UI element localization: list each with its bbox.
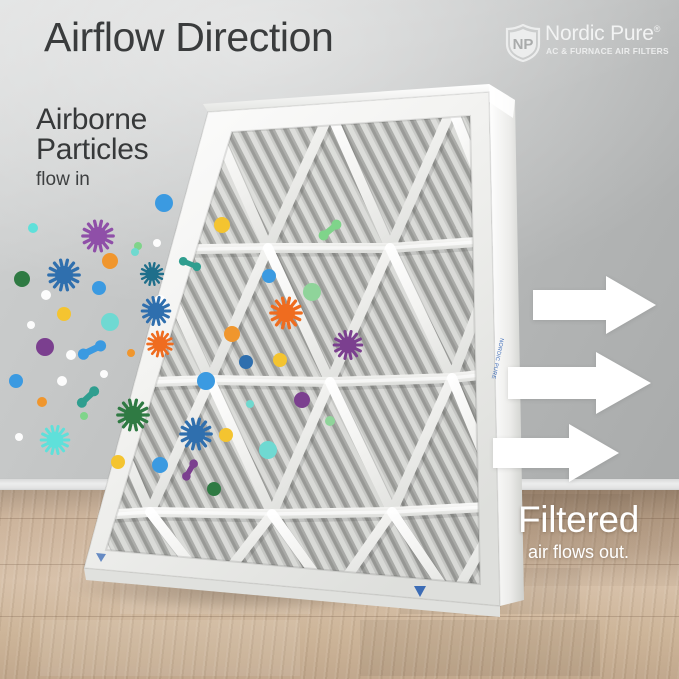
outlet-callout: Filtered air flows out.	[518, 500, 639, 563]
pleated-air-filter: NORDIC PURE	[0, 0, 679, 679]
product-infographic: Airflow Direction Airborne Particles flo…	[0, 0, 679, 679]
airflow-arrow-middle	[508, 352, 651, 414]
outlet-callout-line2: air flows out.	[518, 541, 639, 563]
outlet-callout-line1: Filtered	[518, 500, 639, 540]
filter-graphic	[0, 0, 679, 679]
airflow-arrow-bottom	[493, 424, 619, 482]
airflow-arrow-top	[533, 276, 656, 334]
